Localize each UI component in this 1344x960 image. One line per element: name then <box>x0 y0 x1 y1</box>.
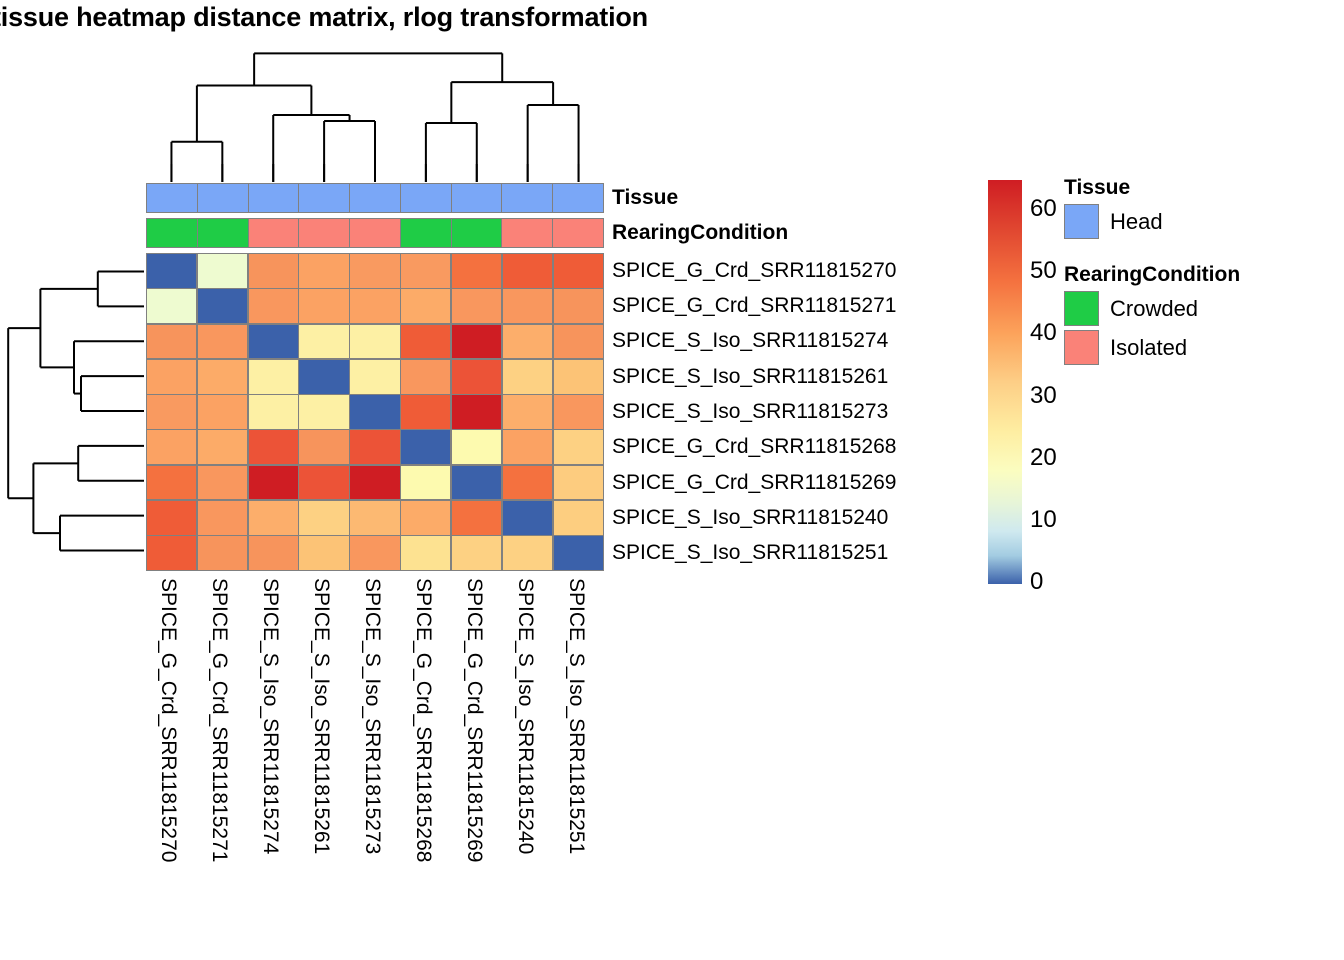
heatmap-cell <box>452 501 501 535</box>
annotation-label-tissue: Tissue <box>612 186 678 210</box>
legend-item[interactable]: Crowded <box>1064 289 1334 328</box>
heatmap-cell <box>249 395 298 429</box>
column-label: SPICE_S_Iso_SRR11815274 <box>258 578 282 854</box>
legend-spacer <box>1064 241 1334 263</box>
tissue-anno-cell <box>502 184 553 212</box>
rearing-anno-cell <box>147 219 198 247</box>
heatmap-cell <box>503 325 552 359</box>
colorbar-tick-label: 50 <box>1030 257 1057 285</box>
heatmap-cell <box>249 325 298 359</box>
heatmap-cell <box>249 289 298 323</box>
row-dendrogram-svg <box>4 254 144 568</box>
heatmap-cell <box>503 395 552 429</box>
heatmap-cell <box>503 254 552 288</box>
heatmap-cell <box>147 501 196 535</box>
row-label: SPICE_S_Iso_SRR11815251 <box>612 541 888 565</box>
heatmap-cell <box>350 360 399 394</box>
heatmap-cell <box>452 360 501 394</box>
heatmap-cell <box>147 254 196 288</box>
tissue-anno-cell <box>198 184 249 212</box>
heatmap-cell <box>299 466 348 500</box>
heatmap-cell <box>503 360 552 394</box>
heatmap-matrix <box>146 253 604 571</box>
heatmap-cell <box>249 466 298 500</box>
heatmap-cell <box>554 536 603 570</box>
heatmap-cell <box>452 536 501 570</box>
heatmap-cell <box>350 254 399 288</box>
heatmap-cell <box>350 430 399 464</box>
column-dendrogram-ticks <box>146 164 604 182</box>
row-label: SPICE_G_Crd_SRR11815268 <box>612 435 896 459</box>
heatmap-cell <box>554 325 603 359</box>
heatmap-cell <box>249 430 298 464</box>
heatmap-cell <box>299 395 348 429</box>
legend-item-label: Isolated <box>1110 335 1187 361</box>
heatmap-cell <box>503 466 552 500</box>
heatmap-cell <box>198 466 247 500</box>
heatmap-cell <box>350 395 399 429</box>
heatmap-cell <box>452 395 501 429</box>
column-label: SPICE_S_Iso_SRR11815251 <box>564 578 588 854</box>
heatmap-cell <box>299 254 348 288</box>
heatmap-cell <box>554 289 603 323</box>
legend-title-rearingcondition: RearingCondition <box>1064 263 1334 287</box>
heatmap-cell <box>452 289 501 323</box>
row-label: SPICE_G_Crd_SRR11815269 <box>612 471 896 495</box>
row-label: SPICE_S_Iso_SRR11815240 <box>612 506 888 530</box>
column-label: SPICE_S_Iso_SRR11815261 <box>309 578 333 854</box>
legend-swatch <box>1064 291 1099 326</box>
heatmap-cell <box>147 395 196 429</box>
rearing-anno-cell <box>350 219 401 247</box>
heatmap-cell <box>503 430 552 464</box>
column-label: SPICE_S_Iso_SRR11815273 <box>360 578 384 854</box>
tissue-anno-cell <box>452 184 503 212</box>
heatmap-cell <box>401 325 450 359</box>
column-dendrogram-svg <box>146 48 604 182</box>
heatmap-cell <box>503 501 552 535</box>
column-dendrogram <box>146 48 604 182</box>
heatmap-cell <box>350 325 399 359</box>
heatmap-cell <box>249 536 298 570</box>
rearing-anno-cell <box>401 219 452 247</box>
heatmap-figure: tissue heatmap distance matrix, rlog tra… <box>0 0 1344 960</box>
heatmap-cell <box>350 536 399 570</box>
heatmap-cell <box>299 501 348 535</box>
legend-swatch <box>1064 330 1099 365</box>
rearing-anno-cell <box>249 219 300 247</box>
heatmap-cell <box>452 430 501 464</box>
heatmap-cell <box>299 289 348 323</box>
heatmap-cell <box>401 430 450 464</box>
heatmap-cell <box>198 254 247 288</box>
heatmap-cell <box>198 430 247 464</box>
annotation-label-rearingcondition: RearingCondition <box>612 221 788 245</box>
heatmap-cell <box>299 430 348 464</box>
heatmap-cell <box>299 325 348 359</box>
heatmap-cell <box>198 501 247 535</box>
heatmap-cell <box>198 536 247 570</box>
legend-swatch <box>1064 204 1099 239</box>
heatmap-cell <box>198 325 247 359</box>
row-label: SPICE_S_Iso_SRR11815274 <box>612 329 888 353</box>
heatmap-cell <box>401 395 450 429</box>
rearing-anno-cell <box>502 219 553 247</box>
heatmap-cell <box>452 254 501 288</box>
column-label: SPICE_G_Crd_SRR11815271 <box>207 578 231 862</box>
rearing-anno-cell <box>553 219 603 247</box>
annotation-legends: TissueHeadRearingConditionCrowdedIsolate… <box>1064 176 1334 367</box>
heatmap-cell <box>299 360 348 394</box>
heatmap-cell <box>249 360 298 394</box>
legend-title-tissue: Tissue <box>1064 176 1334 200</box>
tissue-anno-cell <box>553 184 603 212</box>
heatmap-cell <box>147 289 196 323</box>
heatmap-cell <box>554 466 603 500</box>
heatmap-cell <box>401 289 450 323</box>
heatmap-cell <box>554 430 603 464</box>
row-label: SPICE_G_Crd_SRR11815271 <box>612 294 896 318</box>
heatmap-cell <box>503 289 552 323</box>
column-label: SPICE_G_Crd_SRR11815270 <box>156 578 180 862</box>
heatmap-cell <box>503 536 552 570</box>
column-labels: SPICE_G_Crd_SRR11815270SPICE_G_Crd_SRR11… <box>146 578 604 948</box>
tissue-anno-cell <box>299 184 350 212</box>
legend-item-label: Head <box>1110 209 1163 235</box>
page-title: tissue heatmap distance matrix, rlog tra… <box>0 2 648 33</box>
tissue-anno-cell <box>249 184 300 212</box>
heatmap-cell <box>350 466 399 500</box>
heatmap-cell <box>249 254 298 288</box>
row-label: SPICE_G_Crd_SRR11815270 <box>612 259 896 283</box>
heatmap-cell <box>198 360 247 394</box>
row-dendrogram <box>4 254 144 568</box>
colorbar-gradient <box>988 180 1022 584</box>
heatmap-cell <box>147 536 196 570</box>
heatmap-cell <box>401 254 450 288</box>
column-label: SPICE_S_Iso_SRR11815240 <box>513 578 537 854</box>
colorbar-tick-label: 10 <box>1030 506 1057 534</box>
tissue-anno-cell <box>147 184 198 212</box>
legend-item[interactable]: Head <box>1064 202 1334 241</box>
heatmap-cell <box>452 325 501 359</box>
heatmap-cell <box>147 466 196 500</box>
rearing-anno-cell <box>299 219 350 247</box>
heatmap-cell <box>299 536 348 570</box>
heatmap-cell <box>401 466 450 500</box>
heatmap-cell <box>401 501 450 535</box>
rearing-anno-cell <box>198 219 249 247</box>
column-label: SPICE_G_Crd_SRR11815268 <box>411 578 435 862</box>
heatmap-cell <box>554 360 603 394</box>
heatmap-cell <box>350 501 399 535</box>
row-label: SPICE_S_Iso_SRR11815261 <box>612 365 888 389</box>
heatmap-cell <box>147 430 196 464</box>
heatmap-cell <box>198 395 247 429</box>
colorbar-tick-label: 0 <box>1030 568 1043 596</box>
legend-item[interactable]: Isolated <box>1064 328 1334 367</box>
row-labels: SPICE_G_Crd_SRR11815270SPICE_G_Crd_SRR11… <box>612 253 1012 571</box>
colorbar-tick-label: 20 <box>1030 444 1057 472</box>
annotation-bar-rearingcondition <box>146 218 604 248</box>
row-label: SPICE_S_Iso_SRR11815273 <box>612 400 888 424</box>
heatmap-cell <box>249 501 298 535</box>
colorbar-tick-label: 60 <box>1030 195 1057 223</box>
colorbar-tick-label: 30 <box>1030 382 1057 410</box>
annotation-bar-tissue <box>146 183 604 213</box>
heatmap-cell <box>554 395 603 429</box>
heatmap-cell <box>198 289 247 323</box>
heatmap-cell <box>452 466 501 500</box>
heatmap-cell <box>554 254 603 288</box>
rearing-anno-cell <box>452 219 503 247</box>
heatmap-cell <box>401 360 450 394</box>
heatmap-cell <box>401 536 450 570</box>
heatmap-cell <box>554 501 603 535</box>
heatmap-cell <box>147 325 196 359</box>
tissue-anno-cell <box>350 184 401 212</box>
heatmap-cell <box>350 289 399 323</box>
legend-item-label: Crowded <box>1110 296 1198 322</box>
tissue-anno-cell <box>401 184 452 212</box>
column-label: SPICE_G_Crd_SRR11815269 <box>462 578 486 862</box>
heatmap-cell <box>147 360 196 394</box>
colorbar-tick-label: 40 <box>1030 319 1057 347</box>
